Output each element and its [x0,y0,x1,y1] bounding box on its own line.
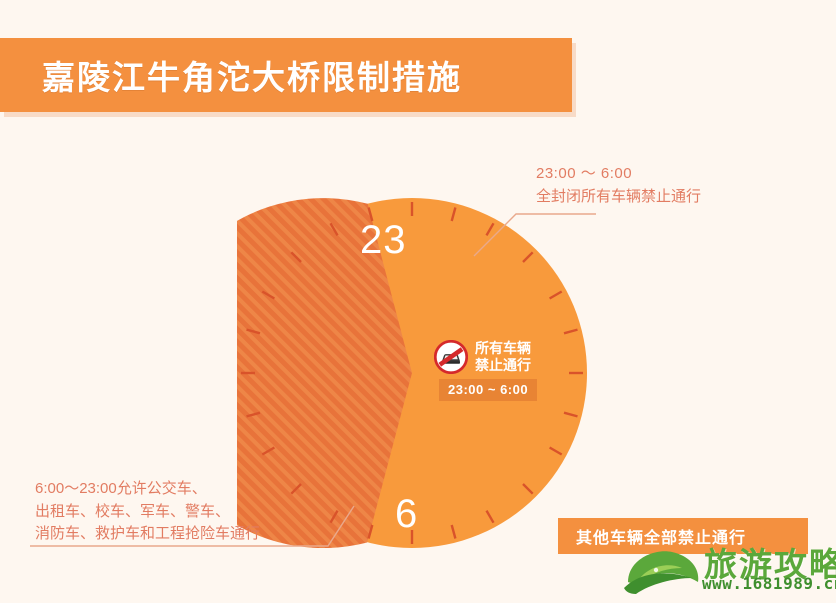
dial-number-23: 23 [360,220,407,260]
badge-time-pill: 23:00 ~ 6:00 [439,379,537,401]
callout-bottom-left-line-3: 消防车、救护车和工程抢险车通行 [35,523,260,546]
badge-line-1: 所有车辆 [475,340,531,357]
watermark-url: www.1681989.cn [702,574,836,593]
callout-bottom-left-line-1: 6:00～23:00允许公交车、 [35,478,260,501]
dial-number-6: 6 [395,494,418,534]
watermark: 旅游攻略 www.1681989.cn [620,540,836,600]
badge-line-2: 禁止通行 [475,357,531,374]
center-badge: 所有车辆 禁止通行 23:00 ~ 6:00 [434,340,569,412]
callout-bottom-left: 6:00～23:00允许公交车、 出租车、校车、军车、警车、 消防车、救护车和工… [35,478,260,546]
page-title: 嘉陵江牛角沱大桥限制措施 [42,51,462,99]
no-vehicles-icon [434,340,468,374]
green-leaf-mountain-logo [620,542,706,598]
callout-top-right-time: 23:00 ～ 6:00 [536,163,701,186]
badge-row: 所有车辆 禁止通行 [434,340,569,374]
callout-top-right-desc: 全封闭所有车辆禁止通行 [536,186,701,209]
badge-text: 所有车辆 禁止通行 [475,340,531,373]
title-banner: 嘉陵江牛角沱大桥限制措施 [0,38,572,112]
callout-top-right: 23:00 ～ 6:00 全封闭所有车辆禁止通行 [536,163,701,208]
infographic-canvas: 嘉陵江牛角沱大桥限制措施 [0,0,836,603]
callout-bottom-left-line-2: 出租车、校车、军车、警车、 [35,501,260,524]
